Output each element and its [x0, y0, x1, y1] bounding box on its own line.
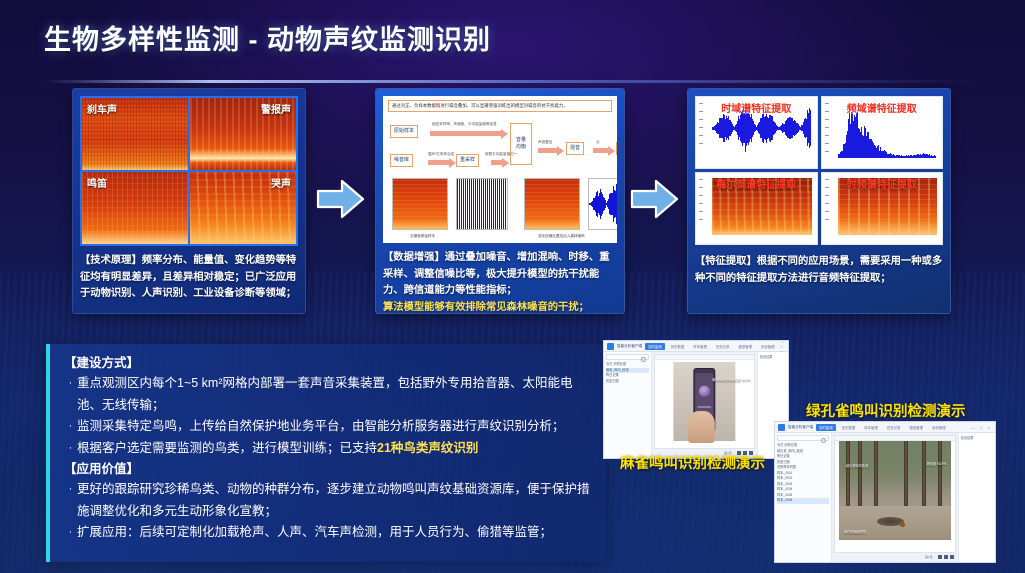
app-tab-samples[interactable]: 样本管理 [861, 424, 881, 431]
detection-overlay-top-right: 置信度 93.8% [927, 461, 947, 466]
panel-tech-principle: 刹车声 警报声 鸣笛 哭声 【技术原理】频率分布、能量值、变化趋势等特征均有明显… [73, 89, 305, 313]
list-item-text: 更好的跟踪研究珍稀鸟类、动物的种群分布，逐步建立动物鸣叫声纹基础资源库，便于保护… [77, 479, 594, 522]
search-input[interactable] [606, 354, 649, 360]
panel-desc-highlight: 算法模型能够有效排除常见森林噪音的干扰； [383, 302, 589, 313]
bullet-icon: · [64, 416, 77, 438]
app-tab-realtime[interactable]: 实时监测 [645, 343, 665, 350]
app-logo-icon [607, 343, 614, 350]
tree [922, 441, 926, 512]
tree [858, 441, 862, 512]
app-logo-icon [778, 424, 785, 431]
bullet-icon: · [64, 373, 77, 416]
feature-label: 梅尔倒谱特征提取 [696, 176, 817, 191]
app-tab-tasks[interactable]: 任务记录 [713, 343, 733, 350]
panel-desc-head: 【技术原理】 [80, 255, 142, 266]
feature-mfcc: 梅尔倒谱特征提取 [695, 172, 818, 245]
list-item-text-plain: 根据客户选定需要监测的鸟类，进行模型训练；已支持 [77, 441, 377, 455]
diagram-note: 通过对正、负样本数据均进行噪音叠加，可以显著增强训练出的模型对噪音的抗干扰能力。 [388, 100, 612, 112]
photo-frame: 绿孔雀鸣叫检测 置信度 93.8% 绿孔雀画面抓拍 [839, 441, 950, 540]
audio-disc-icon [699, 386, 710, 397]
flow-caption-3: 按照平均能量值归一 [485, 152, 517, 157]
chart-caption-clean: 无噪音原始样本 [410, 234, 435, 239]
photo-phone-scene [674, 362, 735, 442]
arrow-panel1-to-panel2 [316, 178, 366, 225]
demo-screenshot-green-peafowl[interactable]: 智能分析客户端 实时监测 历史数据 样本管理 任务记录 模型管理 系统管理 — … [774, 421, 996, 563]
diagram-note-prefix: 通过对正、负样本数据 [392, 103, 436, 108]
section-title-construction: 【建设方式】 [64, 353, 594, 373]
demo-screenshot-sparrow[interactable]: 智能分析客户端 实时监测 历史数据 样本管理 任务记录 模型管理 系统管理 — … [603, 340, 789, 459]
feature-label: 时域谱特征提取 [696, 100, 817, 115]
slide-canvas: 生物多样性监测 - 动物声纹监测识别 刹车声 警报声 鸣笛 哭声 【技术原理】 [0, 0, 1025, 573]
list-item-text: 重点观测区内每个1~5 km²网格内部署一套声音采集装置，包括野外专用拾音器、太… [77, 373, 594, 416]
window-controls[interactable]: — □ × [971, 425, 992, 430]
tree [874, 441, 878, 512]
app-tab-tasks[interactable]: 任务记录 [884, 424, 904, 431]
page-label: 第1页 [925, 555, 933, 559]
app-sidebar: 今日 识别记录 绿孔雀_鸣叫_检测 昨日记录 历史归档 识别样本列表 样本_00… [775, 433, 832, 562]
app-tab-models[interactable]: 模型管理 [735, 343, 755, 350]
flow-caption-1: 固定采样率、声道数、平均能量值等信息 [432, 122, 497, 127]
flow-box-spectrogram: 时频图 [616, 142, 617, 155]
app-sidebar: 今日 识别记录 麻雀_鸣叫_检测 昨日记录 历史归档 [604, 352, 652, 458]
feature-time-domain: 时域谱特征提取 [695, 96, 818, 169]
media-toolbar[interactable] [655, 355, 754, 360]
demo-caption-sparrow: 麻雀鸣叫识别检测演示 [620, 452, 765, 473]
view-grid-icon[interactable] [938, 555, 942, 559]
list-item-text-bold: 21种鸟类声纹识别 [377, 441, 478, 455]
app-tab-system[interactable]: 系统管理 [929, 424, 949, 431]
panel-description: 【数据增强】通过叠加噪音、增加混响、时移、重采样、调整信噪比等，极大提升模型的抗… [383, 250, 617, 316]
right-panel-header: 检测结果 [760, 354, 786, 359]
detection-overlay-top-left: 绿孔雀鸣叫检测 [846, 463, 868, 468]
flow-caption-5: 点 [596, 140, 600, 145]
augmentation-diagram: 通过对正、负样本数据均进行噪音叠加，可以显著增强训练出的模型对噪音的抗干扰能力。… [383, 96, 617, 243]
progress-bar [697, 406, 711, 408]
panel-description: 【特征提取】根据不同的应用场景，需要采用一种或多种不同的特征提取方法进行音频特征… [695, 254, 943, 287]
right-panel-header: 检测结果 [961, 435, 993, 440]
flow-arrow-4 [538, 148, 558, 153]
chart-noisy-waveform [588, 178, 617, 230]
page-title: 生物多样性监测 - 动物声纹监测识别 [44, 18, 491, 57]
media-footer: 第1页 [834, 553, 955, 560]
panel-description: 【技术原理】频率分布、能量值、变化趋势等特征均有明显差异，且差异相对稳定；已广泛… [80, 253, 298, 303]
flow-caption-2: 循环/在采样合成 [428, 152, 454, 157]
flow-box-noise-library: 噪音库 [390, 154, 413, 167]
list-item-text: 监测采集特定鸟鸣，上传给自然保护地业务平台，由智能分析服务器进行声纹识别分析； [77, 416, 594, 438]
app-title: 智能分析客户端 [617, 344, 642, 349]
arrow-panel2-to-panel3 [630, 178, 680, 225]
chart-caption-noisy: 变化信噪比叠加加入森林噪声 [538, 234, 585, 239]
tree-item[interactable]: 历史归档 [606, 379, 649, 385]
chart-noisy-spectrogram [524, 178, 580, 230]
app-tab-models[interactable]: 模型管理 [906, 424, 926, 431]
demo-caption-green-peafowl: 绿孔雀鸣叫识别检测演示 [806, 400, 966, 421]
flow-arrow-3 [491, 160, 503, 165]
diagram-flow: 原始样本 噪音库 重采样 音量均衡 混音 时频图 固定采样率、声道数、平均能量值… [388, 117, 612, 172]
app-body: 今日 识别记录 绿孔雀_鸣叫_检测 昨日记录 历史归档 识别样本列表 样本_00… [775, 433, 995, 562]
flow-box-volume-balance: 音量均衡 [510, 123, 532, 165]
page-title-text: 生物多样性监测 - 动物声纹监测识别 [44, 18, 491, 57]
detection-overlay-bottom: 绿孔雀画面抓拍 [844, 529, 866, 534]
app-title: 智能分析客户端 [788, 425, 813, 430]
app-main: 绿孔雀鸣叫检测 置信度 93.8% 绿孔雀画面抓拍 第1页 [832, 433, 957, 562]
tree [904, 441, 908, 512]
app-body: 今日 识别记录 麻雀_鸣叫_检测 昨日记录 历史归档 [604, 352, 788, 458]
view-list-icon[interactable] [944, 555, 948, 559]
spectrogram-label: 鸣笛 [87, 175, 107, 190]
search-input[interactable] [777, 435, 829, 441]
list-item: · 更好的跟踪研究珍稀鸟类、动物的种群分布，逐步建立动物鸣叫声纹基础资源库，便于… [64, 479, 594, 522]
spectrogram-brake: 刹车声 [82, 98, 188, 170]
app-tab-samples[interactable]: 样本管理 [690, 343, 710, 350]
app-tab-history[interactable]: 历史数据 [668, 343, 688, 350]
app-tab-history[interactable]: 历史数据 [839, 424, 859, 431]
spectrogram-cry: 哭声 [190, 172, 296, 244]
feature-frequency-domain: 频域谱特征提取 [821, 96, 944, 169]
diagram-charts: 无噪音原始样本 变化信噪比叠加加入森林噪声 [388, 174, 612, 243]
flow-arrow-5 [593, 148, 609, 153]
tree [938, 441, 942, 512]
hand [688, 411, 715, 443]
chart-clean-spectrogram [392, 178, 448, 230]
bullet-icon: · [64, 522, 77, 544]
photo-forest-scene: 绿孔雀鸣叫检测 置信度 93.8% 绿孔雀画面抓拍 [839, 441, 950, 540]
panel-desc-head: 【数据增强】 [383, 252, 445, 263]
panel-data-augmentation: 通过对正、负样本数据均进行噪音叠加，可以显著增强训练出的模型对噪音的抗干扰能力。… [376, 89, 624, 313]
bullet-icon: · [64, 479, 77, 522]
spectrogram-horn: 鸣笛 [82, 172, 188, 244]
detection-overlay-text: 麻雀鸣叫识别置信度 96.5% [712, 377, 751, 382]
bullet-icon: · [64, 438, 77, 460]
feature-grid: 时域谱特征提取 频域谱特征提取 梅尔倒谱特征提取 时频谱特征提取 [695, 96, 943, 245]
media-viewer[interactable]: 绿孔雀鸣叫检测 置信度 93.8% 绿孔雀画面抓拍 [834, 435, 955, 553]
spectrogram-label: 警报声 [261, 101, 291, 116]
app-titlebar: 智能分析客户端 实时监测 历史数据 样本管理 任务记录 模型管理 系统管理 — … [775, 422, 995, 433]
section-title-value: 【应用价值】 [64, 459, 594, 479]
list-item-text: 根据客户选定需要监测的鸟类，进行模型训练；已支持21种鸟类声纹识别 [77, 438, 594, 460]
view-detail-icon[interactable] [950, 555, 954, 559]
flow-arrow-1 [430, 131, 502, 136]
list-item: · 重点观测区内每个1~5 km²网格内部署一套声音采集装置，包括野外专用拾音器… [64, 373, 594, 416]
tree-item-selected[interactable]: 样本_0006 [777, 498, 829, 504]
list-item: · 根据客户选定需要监测的鸟类，进行模型训练；已支持21种鸟类声纹识别 [64, 438, 594, 460]
app-tab-realtime[interactable]: 实时监测 [816, 424, 836, 431]
feature-spectrogram: 时频谱特征提取 [821, 172, 944, 245]
diagram-note-suffix: 进行噪音叠加，可以显著增强训练出的模型对噪音的抗干扰能力。 [440, 103, 567, 108]
spectrogram-alarm: 警报声 [190, 98, 296, 170]
list-item-text: 扩展应用：后续可定制化加载枪声、人声、汽车声检测，用于人员行为、偷猎等监管； [77, 522, 594, 544]
tree [846, 441, 850, 512]
spectrogram-label: 哭声 [271, 175, 291, 190]
app-tab-system[interactable]: 系统管理 [758, 343, 778, 350]
flow-box-mixing: 混音 [566, 142, 584, 155]
flow-caption-4: 声音叠加 [538, 140, 552, 145]
feature-label: 时频谱特征提取 [822, 176, 943, 191]
app-titlebar: 智能分析客户端 实时监测 历史数据 样本管理 任务记录 模型管理 系统管理 — … [604, 341, 788, 352]
title-underline [44, 80, 984, 83]
panel-desc-head: 【特征提取】 [695, 256, 757, 267]
chart-clean-waveform [456, 178, 508, 230]
list-item: · 监测采集特定鸟鸣，上传给自然保护地业务平台，由智能分析服务器进行声纹识别分析… [64, 416, 594, 438]
flow-box-original-sample: 原始样本 [390, 125, 418, 138]
info-box: 【建设方式】 · 重点观测区内每个1~5 km²网格内部署一套声音采集装置，包括… [46, 344, 606, 562]
flow-arrow-2 [428, 160, 450, 165]
app-right-panel: 检测结果 [958, 433, 995, 562]
feature-label: 频域谱特征提取 [822, 100, 943, 115]
spectrogram-grid: 刹车声 警报声 鸣笛 哭声 [80, 96, 298, 246]
panel-feature-extraction: 时域谱特征提取 频域谱特征提取 梅尔倒谱特征提取 时频谱特征提取 [688, 89, 950, 313]
media-viewer[interactable]: 麻雀鸣叫识别置信度 96.5% [654, 354, 755, 449]
list-item: · 扩展应用：后续可定制化加载枪声、人声、汽车声检测，用于人员行为、偷猎等监管； [64, 522, 594, 544]
flow-box-resample: 重采样 [456, 154, 479, 167]
spectrogram-label: 刹车声 [87, 101, 117, 116]
app-main: 麻雀鸣叫识别置信度 96.5% 第1页 [652, 352, 757, 458]
